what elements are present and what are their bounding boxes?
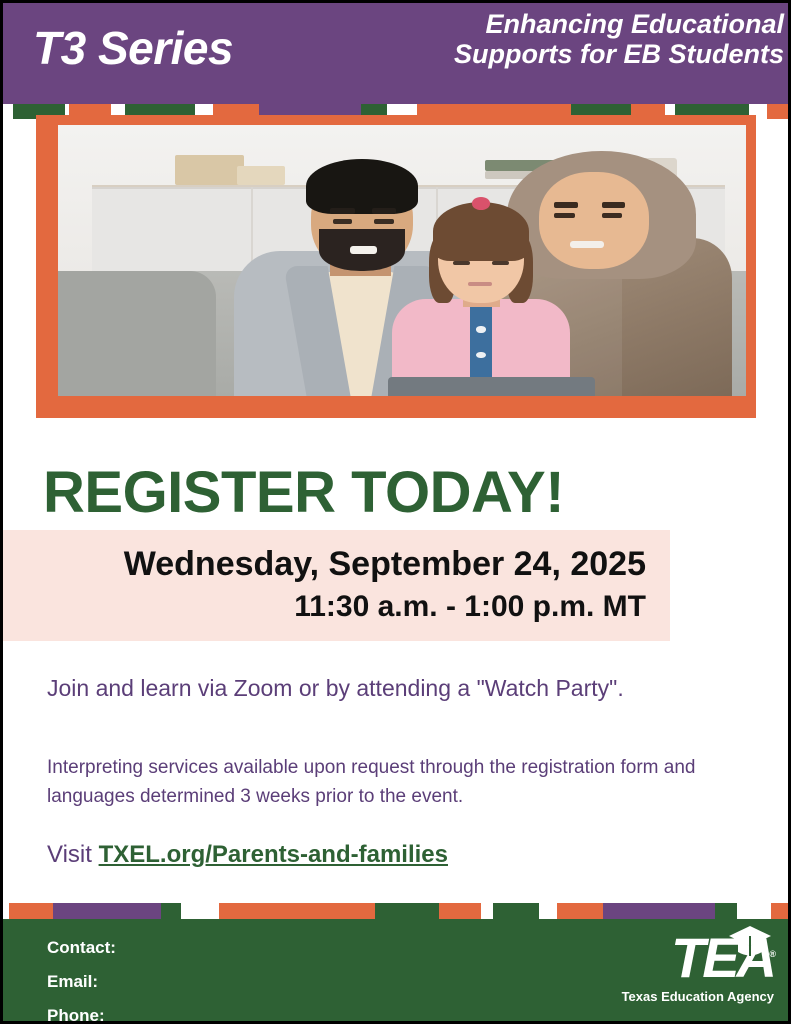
stripe-segment xyxy=(3,104,13,119)
stripe-segment xyxy=(493,903,539,919)
graduation-cap-icon xyxy=(728,925,772,959)
stripe-segment xyxy=(737,903,771,919)
register-heading: REGISTER TODAY! xyxy=(43,459,564,526)
header-subtitle: Enhancing Educational Supports for EB St… xyxy=(354,9,784,69)
tea-wordmark: TEA ® xyxy=(614,929,774,987)
interpreting-services-note: Interpreting services available upon req… xyxy=(47,753,747,812)
flyer-page: T3 Series Enhancing Educational Supports… xyxy=(0,0,791,1024)
photo-scene xyxy=(58,125,746,396)
contact-field-label: Contact: xyxy=(47,931,116,965)
stripe-segment xyxy=(481,903,493,919)
visit-line: Visit TXEL.org/Parents-and-families xyxy=(47,841,448,869)
tea-logo: TEA ® Texas Education Agency xyxy=(614,929,774,1011)
tea-logo-name: Texas Education Agency xyxy=(614,989,774,1004)
stripe-segment xyxy=(219,903,375,919)
stripe-segment xyxy=(161,903,181,919)
page-title: T3 Series xyxy=(33,21,233,75)
stripe-segment xyxy=(603,903,715,919)
photo-tablet xyxy=(388,377,594,396)
stripe-segment xyxy=(771,903,788,919)
stripe-segment xyxy=(539,903,557,919)
decorative-stripe-band-bottom xyxy=(3,903,788,919)
contact-field-label: Phone: xyxy=(47,999,116,1024)
event-date: Wednesday, September 24, 2025 xyxy=(3,545,646,584)
event-time: 11:30 a.m. - 1:00 p.m. MT xyxy=(3,590,646,624)
header-subtitle-line2: Supports for EB Students xyxy=(354,39,784,69)
photo-person-child xyxy=(388,185,574,396)
footer-bar: Contact:Email:Phone: TEA ® Texas Educati… xyxy=(3,919,788,1021)
header-subtitle-line1: Enhancing Educational xyxy=(354,9,784,39)
visit-prefix: Visit xyxy=(47,841,99,868)
stripe-segment xyxy=(375,903,439,919)
stripe-segment xyxy=(53,903,161,919)
stripe-segment xyxy=(767,104,788,119)
family-reading-together-photo xyxy=(58,125,746,396)
txel-website-link[interactable]: TXEL.org/Parents-and-families xyxy=(99,841,448,868)
contact-field-label: Email: xyxy=(47,965,116,999)
stripe-segment xyxy=(439,903,481,919)
stripe-segment xyxy=(557,903,603,919)
event-date-band: Wednesday, September 24, 2025 11:30 a.m.… xyxy=(3,530,670,641)
header-banner: T3 Series Enhancing Educational Supports… xyxy=(3,3,788,104)
contact-fields: Contact:Email:Phone: xyxy=(47,931,116,1024)
photo-frame xyxy=(36,115,756,418)
stripe-segment xyxy=(715,903,737,919)
stripe-segment xyxy=(181,903,219,919)
join-instructions: Join and learn via Zoom or by attending … xyxy=(47,675,624,702)
stripe-segment xyxy=(9,903,53,919)
photo-couch-arm xyxy=(58,271,216,396)
